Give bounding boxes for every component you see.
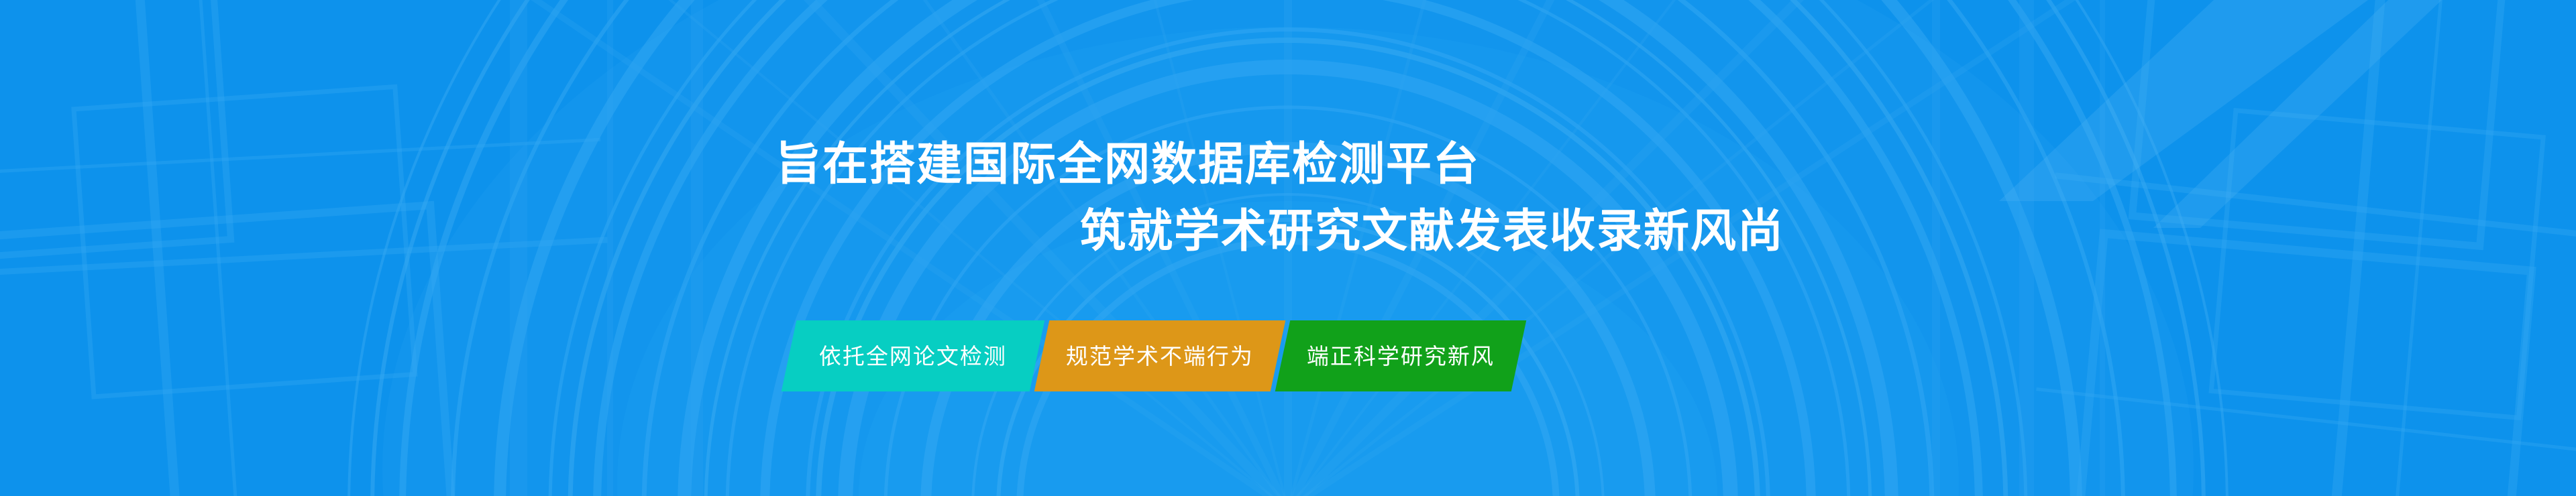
feature-tag-2[interactable]: 规范学术不端行为: [1034, 320, 1286, 391]
banner-headline: 旨在搭建国际全网数据库检测平台 筑就学术研究文献发表收录新风尚: [0, 131, 2576, 265]
hero-banner: 旨在搭建国际全网数据库检测平台 筑就学术研究文献发表收录新风尚 依托全网论文检测…: [0, 0, 2576, 496]
feature-tag-1-label: 依托全网论文检测: [819, 345, 1007, 367]
headline-line-1: 旨在搭建国际全网数据库检测平台: [0, 131, 2576, 198]
headline-line-2: 筑就学术研究文献发表收录新风尚: [0, 198, 2576, 265]
feature-tag-3[interactable]: 端正科学研究新风: [1275, 320, 1527, 391]
feature-tag-1[interactable]: 依托全网论文检测: [782, 320, 1045, 391]
feature-tag-3-label: 端正科学研究新风: [1307, 345, 1495, 367]
feature-tag-2-label: 规范学术不端行为: [1066, 345, 1254, 367]
feature-tag-band: 依托全网论文检测 规范学术不端行为 端正科学研究新风: [789, 320, 1519, 391]
